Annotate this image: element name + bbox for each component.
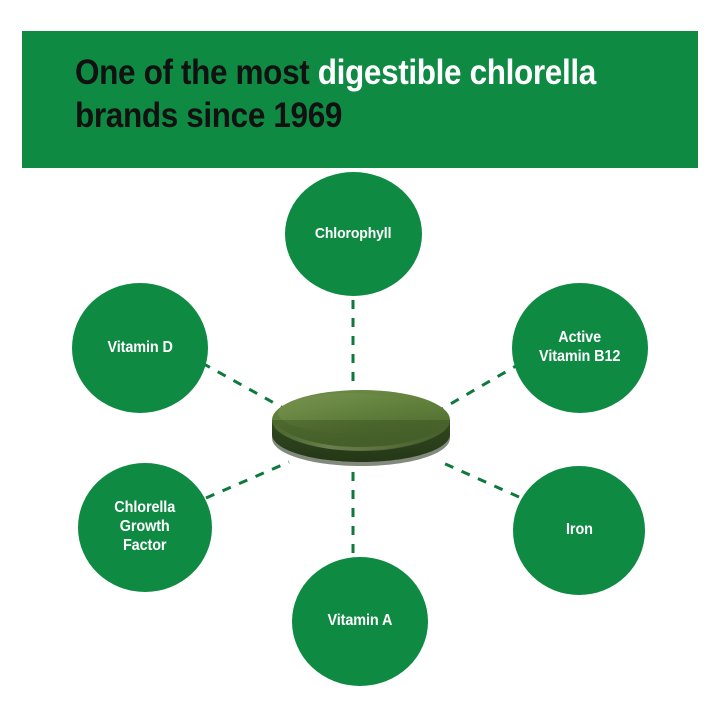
node-vitamin-d-label: Vitamin D xyxy=(100,339,180,358)
headline-segment-3: brands since 1969 xyxy=(75,96,342,135)
node-iron-label: Iron xyxy=(558,521,600,540)
node-chlorophyll-label: Chlorophyll xyxy=(308,225,399,243)
node-vitamin-a-label: Vitamin A xyxy=(320,612,400,631)
chlorella-tablet-image xyxy=(270,382,452,470)
node-vitamin-d[interactable]: Vitamin D xyxy=(72,283,208,413)
headline-segment-1: One of the most xyxy=(75,53,318,92)
node-iron[interactable]: Iron xyxy=(513,466,645,595)
node-chlorophyll[interactable]: Chlorophyll xyxy=(285,172,422,296)
connector-active-vitamin-b12 xyxy=(440,363,521,410)
node-vitamin-a[interactable]: Vitamin A xyxy=(292,557,428,686)
page-title: One of the most digestible chlorella bra… xyxy=(75,52,624,137)
connector-iron xyxy=(441,462,519,497)
chlorella-benefits-infographic: One of the most digestible chlorella bra… xyxy=(0,0,720,720)
chlorella-tablet-graphic xyxy=(270,382,452,470)
node-chlorella-growth-factor-label: Chlorella Growth Factor xyxy=(107,499,183,556)
node-chlorella-growth-factor[interactable]: Chlorella Growth Factor xyxy=(78,463,212,592)
node-active-vitamin-b12[interactable]: Active Vitamin B12 xyxy=(512,283,648,413)
headline-segment-2: digestible chlorella xyxy=(318,53,596,92)
node-active-vitamin-b12-label: Active Vitamin B12 xyxy=(532,329,628,367)
header-banner: One of the most digestible chlorella bra… xyxy=(22,31,698,168)
